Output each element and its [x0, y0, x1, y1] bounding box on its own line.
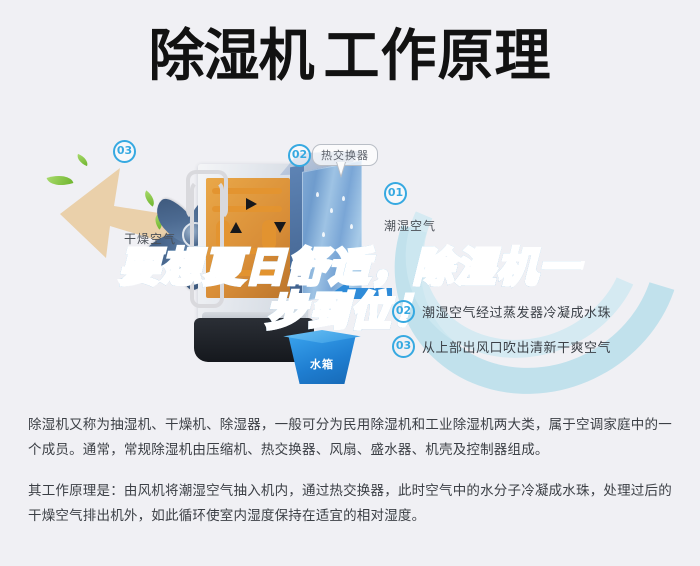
callout-badge-03: 03 [113, 140, 136, 163]
flow-arrow-down-icon [274, 222, 286, 233]
legend-item: 03 从上部出风口吹出清新干爽空气 [392, 335, 692, 358]
callout-label-dry-air: 干燥空气 [124, 230, 176, 247]
body-paragraph-1: 除湿机又称为抽湿机、干燥机、除湿器，一般可分为民用除湿机和工业除湿机两大类，属于… [28, 412, 676, 462]
title-part-2: 工作原理 [324, 24, 552, 89]
legend-badge-03: 03 [392, 335, 415, 358]
legend-text-03: 从上部出风口吹出清新干爽空气 [422, 337, 611, 356]
water-tank-label: 水箱 [276, 356, 368, 372]
legend-list: 01 潮湿空气由下部进风口吸入机内 02 潮湿空气经过蒸发器冷凝成水珠 03 从… [392, 300, 692, 370]
legend-item: 02 潮湿空气经过蒸发器冷凝成水珠 [392, 300, 692, 323]
title-part-1: 除湿机 [149, 24, 314, 89]
page-title: 除湿机工作原理 [0, 28, 700, 87]
callout-badge-02: 02 [288, 144, 311, 167]
body-paragraph-2: 其工作原理是：由风机将潮湿空气抽入机内，通过热交换器，此时空气中的水分子冷凝成水… [28, 478, 676, 528]
water-tank: 水箱 [276, 328, 368, 384]
air-intake-arrow-icon [348, 288, 392, 299]
legend-badge-02: 02 [392, 300, 415, 323]
legend-text-02: 潮湿空气经过蒸发器冷凝成水珠 [422, 302, 611, 321]
infographic-page: 除湿机工作原理 [0, 0, 700, 566]
callout-bubble-tail [336, 162, 346, 178]
callout-badge-01: 01 [384, 182, 407, 205]
flow-arrow-up-icon [230, 222, 242, 233]
dehumidifier-unit: 水箱 [150, 136, 410, 386]
flow-arrow-right-icon [246, 198, 257, 210]
callout-label-humid-air: 潮湿空气 [384, 217, 436, 234]
body-copy: 除湿机又称为抽湿机、干燥机、除湿器，一般可分为民用除湿机和工业除湿机两大类，属于… [28, 412, 676, 544]
